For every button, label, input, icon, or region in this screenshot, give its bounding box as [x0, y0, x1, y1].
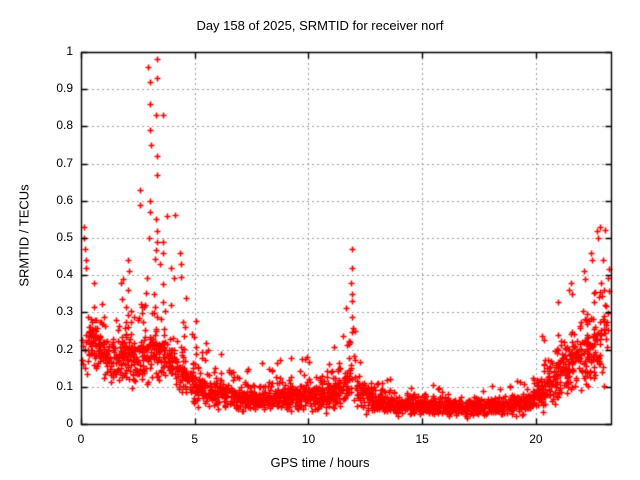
- x-tick-label: 0: [61, 432, 101, 446]
- y-tick-label: 0.2: [33, 342, 73, 356]
- y-tick-label: 0.4: [33, 267, 73, 281]
- y-tick-label: 0.5: [33, 230, 73, 244]
- chart-title: Day 158 of 2025, SRMTID for receiver nor…: [0, 18, 640, 33]
- y-tick-label: 0.9: [33, 81, 73, 95]
- y-tick-label: 1: [33, 44, 73, 58]
- y-tick-label: 0.6: [33, 193, 73, 207]
- x-tick-label: 5: [175, 432, 215, 446]
- x-tick-label: 15: [402, 432, 442, 446]
- chart-figure: Day 158 of 2025, SRMTID for receiver nor…: [0, 0, 640, 480]
- y-tick-label: 0.3: [33, 304, 73, 318]
- scatter-plot-canvas: [0, 0, 640, 480]
- y-tick-label: 0: [33, 416, 73, 430]
- y-tick-label: 0.7: [33, 156, 73, 170]
- y-tick-label: 0.1: [33, 379, 73, 393]
- x-tick-label: 20: [516, 432, 556, 446]
- x-tick-label: 10: [288, 432, 328, 446]
- x-axis-label: GPS time / hours: [0, 455, 640, 470]
- y-axis-label: SRMTID / TECUs: [17, 156, 32, 316]
- y-tick-label: 0.8: [33, 118, 73, 132]
